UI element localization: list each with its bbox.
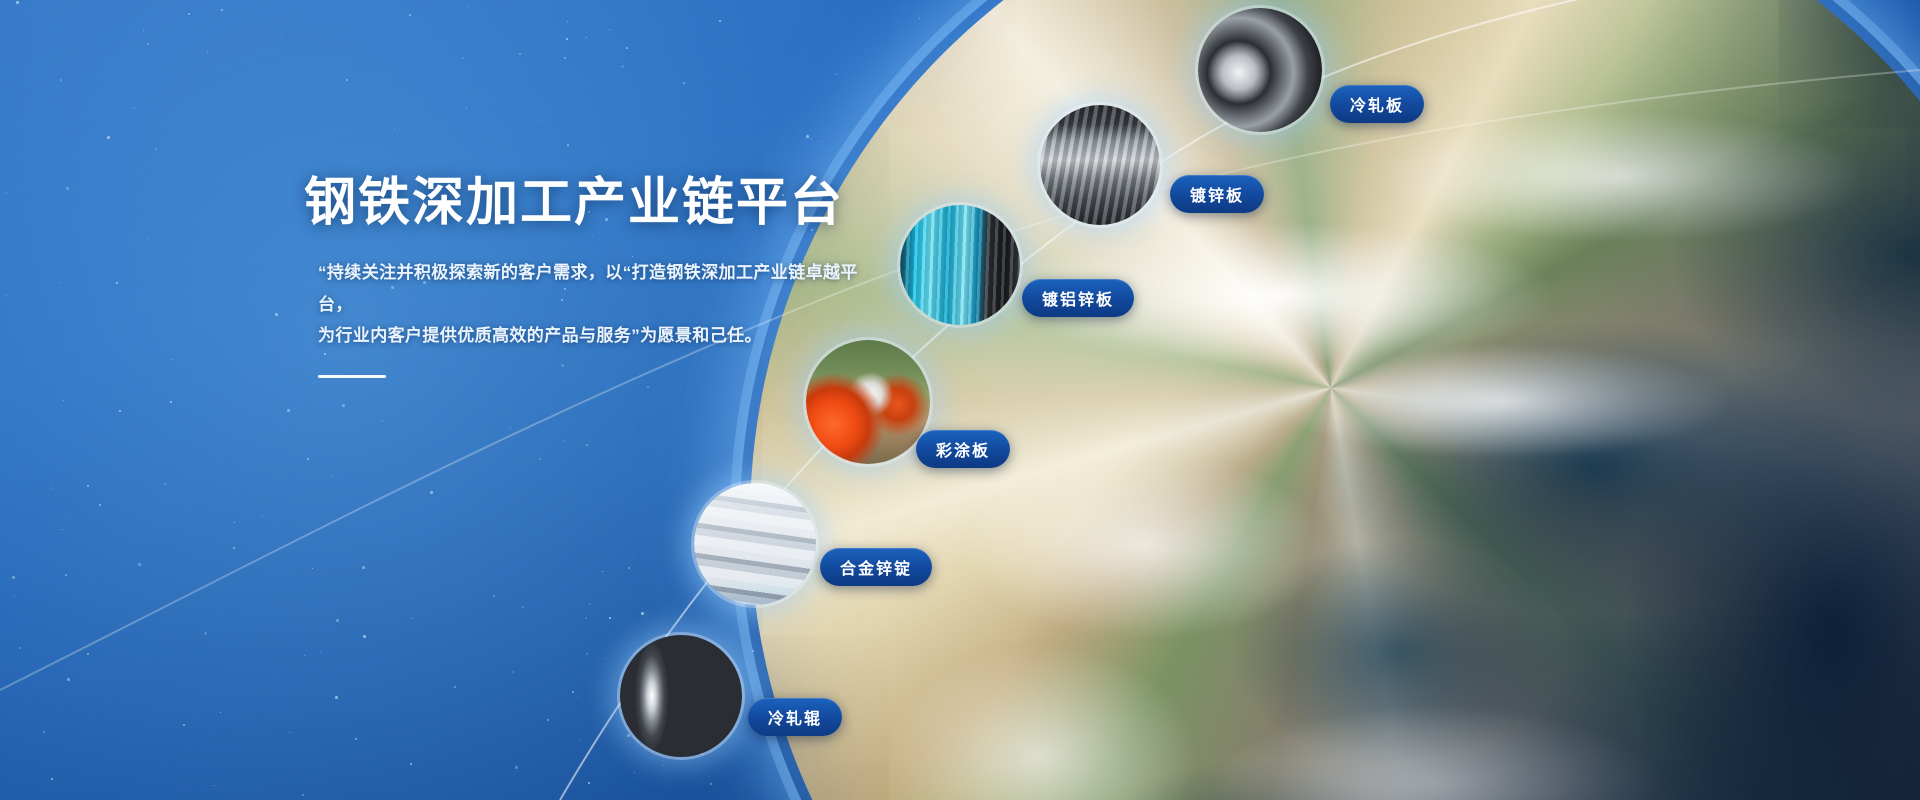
steel-coil-icon[interactable] — [1198, 8, 1322, 132]
product-label-cold-rolled-sheet[interactable]: 冷轧板 — [1330, 85, 1424, 123]
rolling-roll-icon[interactable] — [620, 635, 742, 757]
starfield — [0, 0, 1920, 800]
color-coated-coil-icon[interactable] — [806, 340, 930, 464]
product-thumbnail-image — [620, 635, 742, 757]
product-label-zinc-alloy-ingot[interactable]: 合金锌锭 — [820, 548, 932, 586]
product-thumbnail-image — [1040, 105, 1160, 225]
connector-arc — [0, 0, 1920, 800]
product-label-aluzinc-sheet[interactable]: 镀铝锌板 — [1022, 279, 1134, 317]
hero-copy: 钢铁深加工产业链平台 “持续关注并积极探索新的客户需求，以“打造钢铁深加工产业链… — [304, 176, 924, 378]
product-thumbnail-image — [694, 483, 816, 605]
hero-subtitle: “持续关注并积极探索新的客户需求，以“打造钢铁深加工产业链卓越平台， 为行业内客… — [318, 257, 878, 351]
aluzinc-coil-icon[interactable] — [900, 205, 1020, 325]
product-thumbnail-image — [900, 205, 1020, 325]
zinc-ingot-icon[interactable] — [694, 483, 816, 605]
hero-subtitle-line-2: 为行业内客户提供优质高效的产品与服务”为愿景和己任。 — [318, 326, 762, 345]
hero-subtitle-line-1: “持续关注并积极探索新的客户需求，以“打造钢铁深加工产业链卓越平台， — [318, 263, 858, 313]
product-label-cold-rolling-roll[interactable]: 冷轧辊 — [748, 698, 842, 736]
title-underline-rule — [318, 375, 386, 378]
product-thumbnail-image — [806, 340, 930, 464]
hero-banner: 钢铁深加工产业链平台 “持续关注并积极探索新的客户需求，以“打造钢铁深加工产业链… — [0, 0, 1920, 800]
page-title: 钢铁深加工产业链平台 — [304, 176, 924, 231]
product-thumbnail-image — [1198, 8, 1322, 132]
product-label-color-coated-sheet[interactable]: 彩涂板 — [916, 430, 1010, 468]
product-label-galvanized-sheet[interactable]: 镀锌板 — [1170, 175, 1264, 213]
warehouse-coils-icon[interactable] — [1040, 105, 1160, 225]
